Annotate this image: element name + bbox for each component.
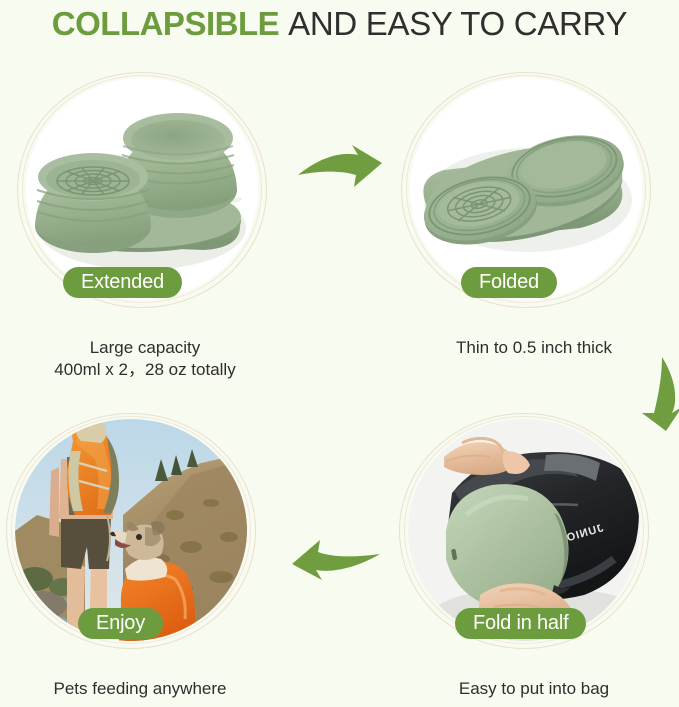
- badge-extended-label: Extended: [81, 271, 164, 294]
- caption-fold-in-half-line1: Easy to put into bag: [389, 678, 679, 700]
- page-title: COLLAPSIBLE AND EASY TO CARRY: [0, 0, 679, 48]
- arrow-right-icon: [296, 143, 384, 197]
- arrow-down-icon: [636, 355, 679, 433]
- page-title-emphasis: COLLAPSIBLE: [52, 5, 279, 43]
- badge-extended: Extended: [63, 267, 182, 298]
- badge-enjoy: Enjoy: [78, 608, 163, 639]
- caption-extended-line1: Large capacity: [0, 337, 290, 359]
- badge-fold-in-half-label: Fold in half: [473, 612, 568, 635]
- badge-folded: Folded: [461, 267, 557, 298]
- badge-fold-in-half: Fold in half: [455, 608, 586, 639]
- caption-enjoy-line1: Pets feeding anywhere: [0, 678, 280, 700]
- arrow-folded-to-fold-in-half: [636, 355, 679, 433]
- page-title-rest: AND EASY TO CARRY: [288, 5, 627, 43]
- arrow-extended-to-folded: [296, 143, 384, 197]
- badge-folded-label: Folded: [479, 271, 539, 294]
- caption-extended: Large capacity 400ml x 2，28 oz totally: [0, 337, 290, 381]
- arrow-fold-in-half-to-enjoy: [290, 538, 382, 590]
- badge-enjoy-label: Enjoy: [96, 612, 145, 635]
- arrow-left-icon: [290, 538, 382, 590]
- caption-fold-in-half: Easy to put into bag: [389, 678, 679, 700]
- caption-enjoy: Pets feeding anywhere: [0, 678, 280, 700]
- caption-extended-line2: 400ml x 2，28 oz totally: [0, 359, 290, 381]
